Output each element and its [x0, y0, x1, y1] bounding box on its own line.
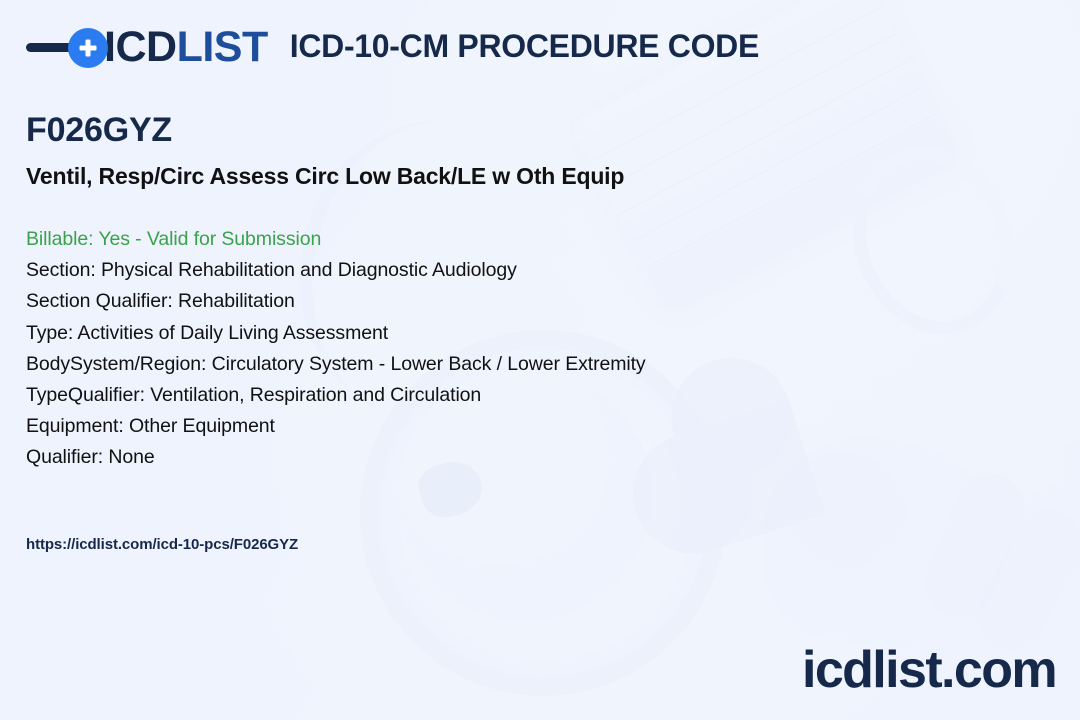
- detail-line: TypeQualifier: Ventilation, Respiration …: [26, 380, 646, 411]
- source-url[interactable]: https://icdlist.com/icd-10-pcs/F026GYZ: [26, 536, 298, 553]
- detail-line: Section: Physical Rehabilitation and Dia…: [26, 255, 646, 286]
- procedure-code: F026GYZ: [26, 111, 172, 150]
- code-details-list: Billable: Yes - Valid for SubmissionSect…: [26, 224, 646, 474]
- page-title: ICD-10-CM PROCEDURE CODE: [290, 28, 759, 67]
- logo-word-icd: ICD: [104, 26, 177, 69]
- detail-line: BodySystem/Region: Circulatory System - …: [26, 349, 646, 380]
- horizontal-dash-icon: [26, 43, 74, 52]
- logo-word-list: LIST: [177, 26, 268, 69]
- plus-circle-icon: [68, 28, 108, 68]
- icd-code-card: ICD LIST ICD-10-CM PROCEDURE CODE F026GY…: [0, 0, 1080, 720]
- icdlist-logo[interactable]: ICD LIST: [26, 26, 268, 69]
- detail-line: Type: Activities of Daily Living Assessm…: [26, 318, 646, 349]
- footer-brand: icdlist.com: [802, 644, 1056, 696]
- procedure-description: Ventil, Resp/Circ Assess Circ Low Back/L…: [26, 163, 624, 190]
- detail-line: Section Qualifier: Rehabilitation: [26, 286, 646, 317]
- page-header: ICD LIST ICD-10-CM PROCEDURE CODE: [26, 26, 759, 69]
- detail-line: Qualifier: None: [26, 442, 646, 473]
- detail-line: Equipment: Other Equipment: [26, 411, 646, 442]
- billable-status-line: Billable: Yes - Valid for Submission: [26, 224, 646, 255]
